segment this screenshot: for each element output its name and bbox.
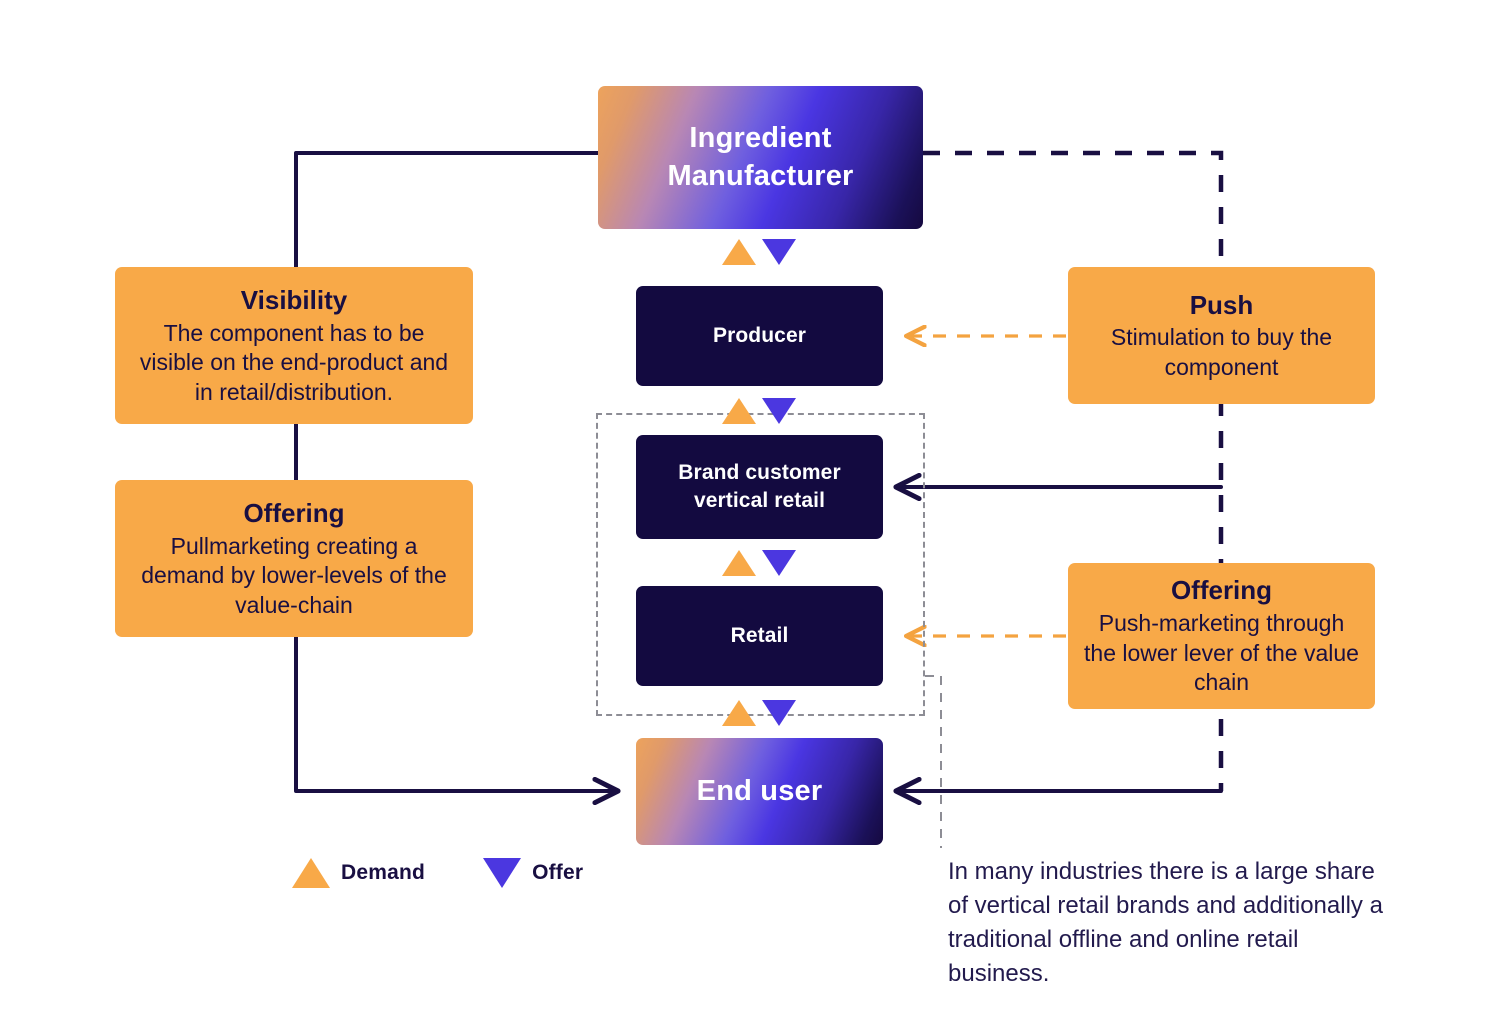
triangle-down-icon [762, 550, 796, 576]
node-ingredient-manufacturer[interactable]: Ingredient Manufacturer [598, 86, 923, 229]
annotation-offering-left-title: Offering [243, 497, 344, 531]
annotation-visibility[interactable]: Visibility The component has to be visib… [115, 267, 473, 424]
node-label-line-1: Ingredient [689, 122, 831, 154]
node-brand-customer-label: Brand customer vertical retail [678, 459, 840, 514]
annotation-push-body: Stimulation to buy the component [1082, 323, 1361, 382]
annotation-offering-right-body: Push-marketing through the lower lever o… [1082, 609, 1361, 697]
node-label-line-2: vertical retail [694, 489, 825, 512]
triangle-up-icon [722, 700, 756, 726]
triangle-down-icon [762, 700, 796, 726]
node-brand-customer-vertical-retail[interactable]: Brand customer vertical retail [636, 435, 883, 539]
flow-indicator-retail-end-user [722, 700, 796, 726]
annotation-offering-right[interactable]: Offering Push-marketing through the lowe… [1068, 563, 1375, 709]
node-ingredient-manufacturer-label: Ingredient Manufacturer [667, 120, 853, 194]
node-retail[interactable]: Retail [636, 586, 883, 686]
node-end-user[interactable]: End user [636, 738, 883, 845]
node-producer-label: Producer [713, 322, 806, 350]
annotation-visibility-title: Visibility [241, 284, 347, 318]
node-label-line-2: Manufacturer [667, 160, 853, 192]
flow-indicator-manufacturer-producer [722, 239, 796, 265]
node-label-line-1: Brand customer [678, 461, 840, 484]
annotation-visibility-body: The component has to be visible on the e… [129, 319, 459, 407]
legend-item-demand-label: Demand [341, 861, 425, 885]
legend-item-demand: Demand [292, 858, 425, 888]
triangle-down-icon [762, 398, 796, 424]
annotation-push[interactable]: Push Stimulation to buy the component [1068, 267, 1375, 404]
annotation-offering-left-body: Pullmarketing creating a demand by lower… [129, 532, 459, 620]
node-end-user-label: End user [697, 773, 823, 810]
triangle-up-icon [722, 550, 756, 576]
triangle-down-icon [483, 858, 521, 888]
annotation-push-title: Push [1190, 289, 1254, 323]
legend-item-offer: Offer [483, 858, 583, 888]
triangle-up-icon [292, 858, 330, 888]
node-retail-label: Retail [731, 622, 789, 650]
legend: Demand Offer [292, 858, 583, 888]
node-producer[interactable]: Producer [636, 286, 883, 386]
annotation-offering-left[interactable]: Offering Pullmarketing creating a demand… [115, 480, 473, 637]
flow-indicator-producer-brand-customer [722, 398, 796, 424]
triangle-up-icon [722, 239, 756, 265]
triangle-down-icon [762, 239, 796, 265]
legend-item-offer-label: Offer [532, 861, 583, 885]
diagram-canvas: Ingredient Manufacturer Producer Brand c… [0, 0, 1494, 1022]
connector-pull-loop [296, 153, 617, 791]
triangle-up-icon [722, 398, 756, 424]
annotation-offering-right-title: Offering [1171, 574, 1272, 608]
flow-indicator-brand-customer-retail [722, 550, 796, 576]
footnote-text: In many industries there is a large shar… [948, 855, 1400, 991]
